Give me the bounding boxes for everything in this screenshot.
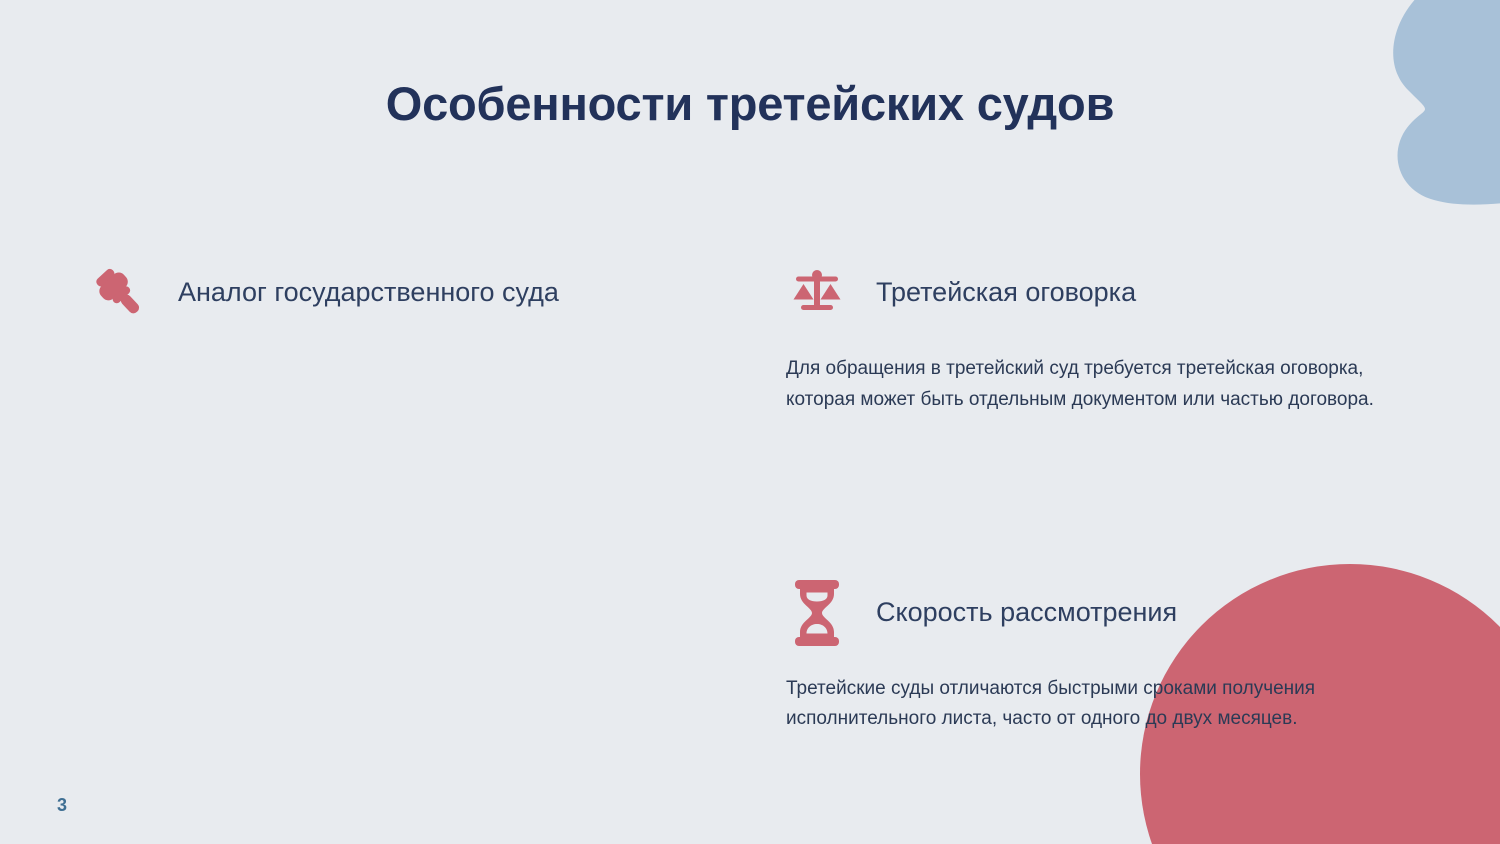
feature-block-speed: Скорость рассмотрения Третейские суды от… bbox=[786, 582, 1406, 736]
feature-heading-row: Аналог государственного суда bbox=[88, 262, 708, 324]
scales-icon bbox=[786, 262, 848, 324]
feature-description: Для обращения в третейский суд требуется… bbox=[786, 354, 1391, 416]
feature-description: Третейские суды отличаются быстрыми срок… bbox=[786, 674, 1391, 736]
column-spacer bbox=[786, 416, 1406, 582]
feature-heading-row: Скорость рассмотрения bbox=[786, 582, 1406, 644]
page-number: 3 bbox=[57, 795, 67, 816]
feature-title: Третейская оговорка bbox=[876, 276, 1136, 310]
slide: Особенности третейских судов Аналог госу… bbox=[0, 0, 1500, 844]
feature-block-arbitration-clause: Третейская оговорка Для обращения в трет… bbox=[786, 262, 1406, 416]
right-column: Третейская оговорка Для обращения в трет… bbox=[786, 262, 1406, 735]
feature-title: Скорость рассмотрения bbox=[876, 596, 1177, 630]
page-title: Особенности третейских судов bbox=[0, 78, 1500, 130]
feature-block-analog: Аналог государственного суда bbox=[88, 262, 708, 324]
feature-heading-row: Третейская оговорка bbox=[786, 262, 1406, 324]
gavel-icon bbox=[88, 262, 150, 324]
feature-title: Аналог государственного суда bbox=[178, 276, 559, 310]
left-column: Аналог государственного суда bbox=[88, 262, 708, 324]
hourglass-icon bbox=[786, 582, 848, 644]
